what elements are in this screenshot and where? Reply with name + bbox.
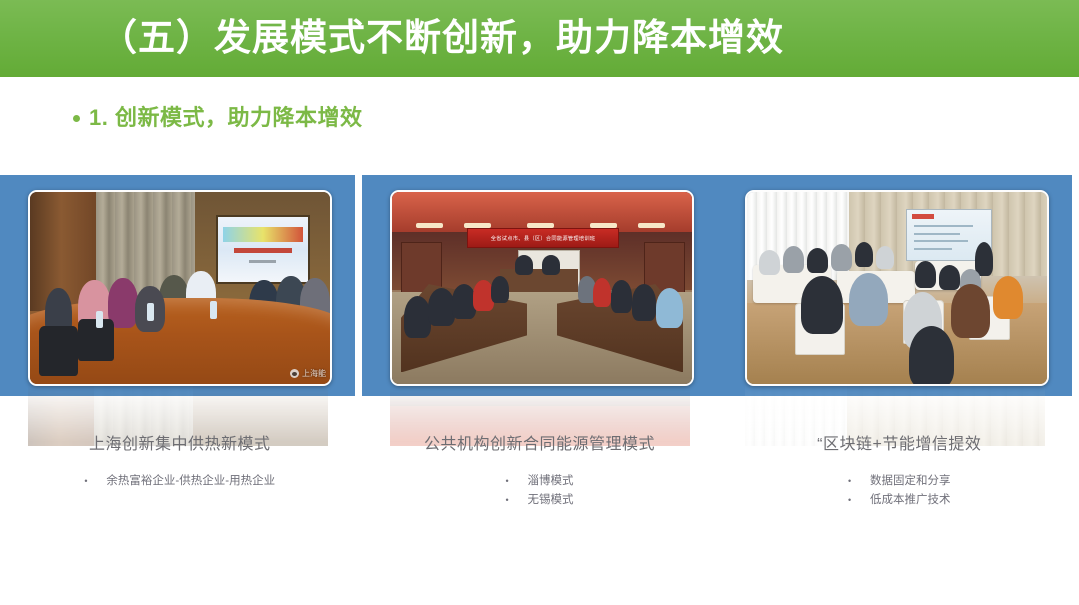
caption-title-3: “区块链+节能增信提效 xyxy=(719,432,1079,458)
caption-title-1: 上海创新集中供热新模式 xyxy=(0,432,360,458)
page-title: （五）发展模式不断创新，助力降本增效 xyxy=(100,9,784,67)
bullet-glyph-icon: • xyxy=(84,472,106,491)
list-item-label: 淄博模式 xyxy=(528,472,574,491)
panel-edge xyxy=(1072,175,1074,396)
caption-column-1: 上海创新集中供热新模式 • 余热富裕企业-供热企业-用热企业 xyxy=(0,432,360,510)
list-item: • 淄博模式 xyxy=(506,472,574,491)
photo-panel-2: 全省试点市、县（区）合同能源管理培训班 xyxy=(362,175,717,396)
scene-training-hall-red: 全省试点市、县（区）合同能源管理培训班 xyxy=(392,192,692,384)
wechat-icon xyxy=(290,369,299,378)
list-item-label: 无锡模式 xyxy=(528,491,574,510)
photo-panel-3 xyxy=(717,175,1072,396)
caption-column-3: “区块链+节能增信提效 • 数据固定和分享 • 低成本推广技术 xyxy=(719,432,1079,510)
bullet-dot-icon xyxy=(73,115,80,122)
subheading-text: 1. 创新模式，助力降本增效 xyxy=(89,100,362,132)
bullet-glyph-icon: • xyxy=(506,491,528,510)
banner-text: 全省试点市、县（区）合同能源管理培训班 xyxy=(491,234,596,242)
caption-list-2: • 淄博模式 • 无锡模式 xyxy=(506,472,574,510)
header-banner: （五）发展模式不断创新，助力降本增效 xyxy=(0,0,1079,77)
caption-column-2: 公共机构创新合同能源管理模式 • 淄博模式 • 无锡模式 xyxy=(360,432,720,510)
list-item-label: 数据固定和分享 xyxy=(870,472,951,491)
bullet-glyph-icon: • xyxy=(848,491,870,510)
photo-watermark: 上海能 xyxy=(290,368,326,379)
photo-3 xyxy=(745,190,1049,386)
bullet-glyph-icon: • xyxy=(848,472,870,491)
caption-title-2: 公共机构创新合同能源管理模式 xyxy=(360,432,720,458)
photo-2: 全省试点市、县（区）合同能源管理培训班 xyxy=(390,190,694,386)
watermark-text: 上海能 xyxy=(302,368,326,379)
list-item-label: 余热富裕企业-供热企业-用热企业 xyxy=(106,472,275,491)
subheading: 1. 创新模式，助力降本增效 xyxy=(73,100,362,132)
list-item: • 无锡模式 xyxy=(506,491,574,510)
banner-text-strip: 全省试点市、县（区）合同能源管理培训班 xyxy=(467,228,619,247)
panel-divider-1 xyxy=(355,175,362,396)
bullet-glyph-icon: • xyxy=(506,472,528,491)
list-item: • 余热富裕企业-供热企业-用热企业 xyxy=(84,472,275,491)
photo-panel-1: 上海能 xyxy=(0,175,355,396)
caption-list-1: • 余热富裕企业-供热企业-用热企业 xyxy=(84,472,275,491)
caption-row: 上海创新集中供热新模式 • 余热富裕企业-供热企业-用热企业 公共机构创新合同能… xyxy=(0,432,1079,510)
scene-seminar-room-bright xyxy=(747,192,1047,384)
list-item: • 数据固定和分享 xyxy=(848,472,951,491)
list-item-label: 低成本推广技术 xyxy=(870,491,951,510)
list-item: • 低成本推广技术 xyxy=(848,491,951,510)
photo-panel-row: 上海能 xyxy=(0,175,1079,396)
caption-list-3: • 数据固定和分享 • 低成本推广技术 xyxy=(848,472,951,510)
photo-1: 上海能 xyxy=(28,190,332,386)
scene-conference-room-wood: 上海能 xyxy=(30,192,330,384)
